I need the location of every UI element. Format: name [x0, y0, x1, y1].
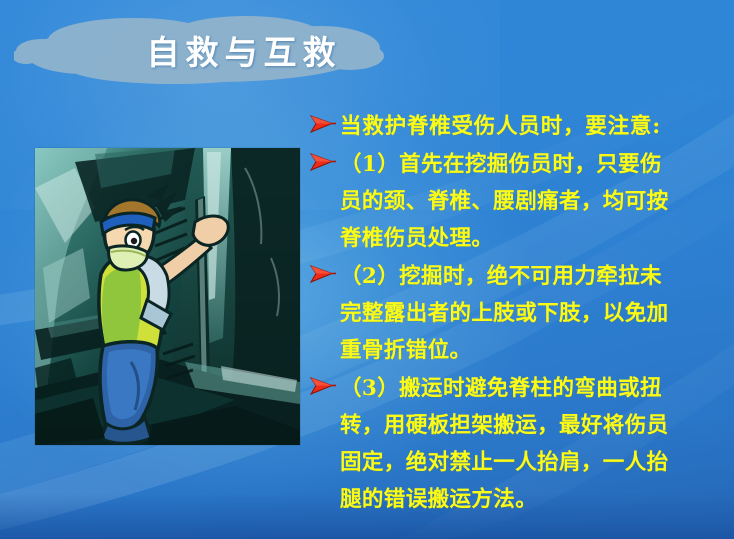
paragraph-text: 当救护脊椎受伤人员时，要注意: [340, 108, 734, 145]
arrow-triangle-icon [310, 376, 336, 396]
arrow-triangle-icon [310, 114, 336, 134]
arrow-triangle-icon [310, 152, 336, 172]
title-cloud-banner: 自救与互救 [14, 10, 406, 90]
arrow-triangle-icon [310, 264, 336, 284]
paragraph-text: （2）挖掘时，绝不可用力牵拉未 完整露出者的上肢或下肢，以免加 重骨折错位。 [340, 258, 734, 369]
paragraph-intro: 当救护脊椎受伤人员时，要注意: [310, 108, 734, 145]
paragraph-text: （3）搬运时避免脊柱的弯曲或扭 转，用硬板担架搬运，最好将伤员 固定，绝对禁止一… [340, 370, 734, 518]
slide-canvas: 自救与互救 [0, 0, 734, 539]
paragraph-item-3: （3）搬运时避免脊柱的弯曲或扭 转，用硬板担架搬运，最好将伤员 固定，绝对禁止一… [310, 370, 734, 518]
page-title: 自救与互救 [14, 10, 406, 90]
content-text-block: 当救护脊椎受伤人员时，要注意: （1）首先在挖掘伤员时，只要伤 员的颈、脊椎、腰… [310, 108, 734, 518]
rescue-worker-illustration [35, 148, 300, 445]
paragraph-text: （1）首先在挖掘伤员时，只要伤 员的颈、脊椎、腰剧痛者，均可按 脊椎伤员处理。 [340, 146, 734, 257]
paragraph-item-1: （1）首先在挖掘伤员时，只要伤 员的颈、脊椎、腰剧痛者，均可按 脊椎伤员处理。 [310, 146, 734, 257]
paragraph-item-2: （2）挖掘时，绝不可用力牵拉未 完整露出者的上肢或下肢，以免加 重骨折错位。 [310, 258, 734, 369]
